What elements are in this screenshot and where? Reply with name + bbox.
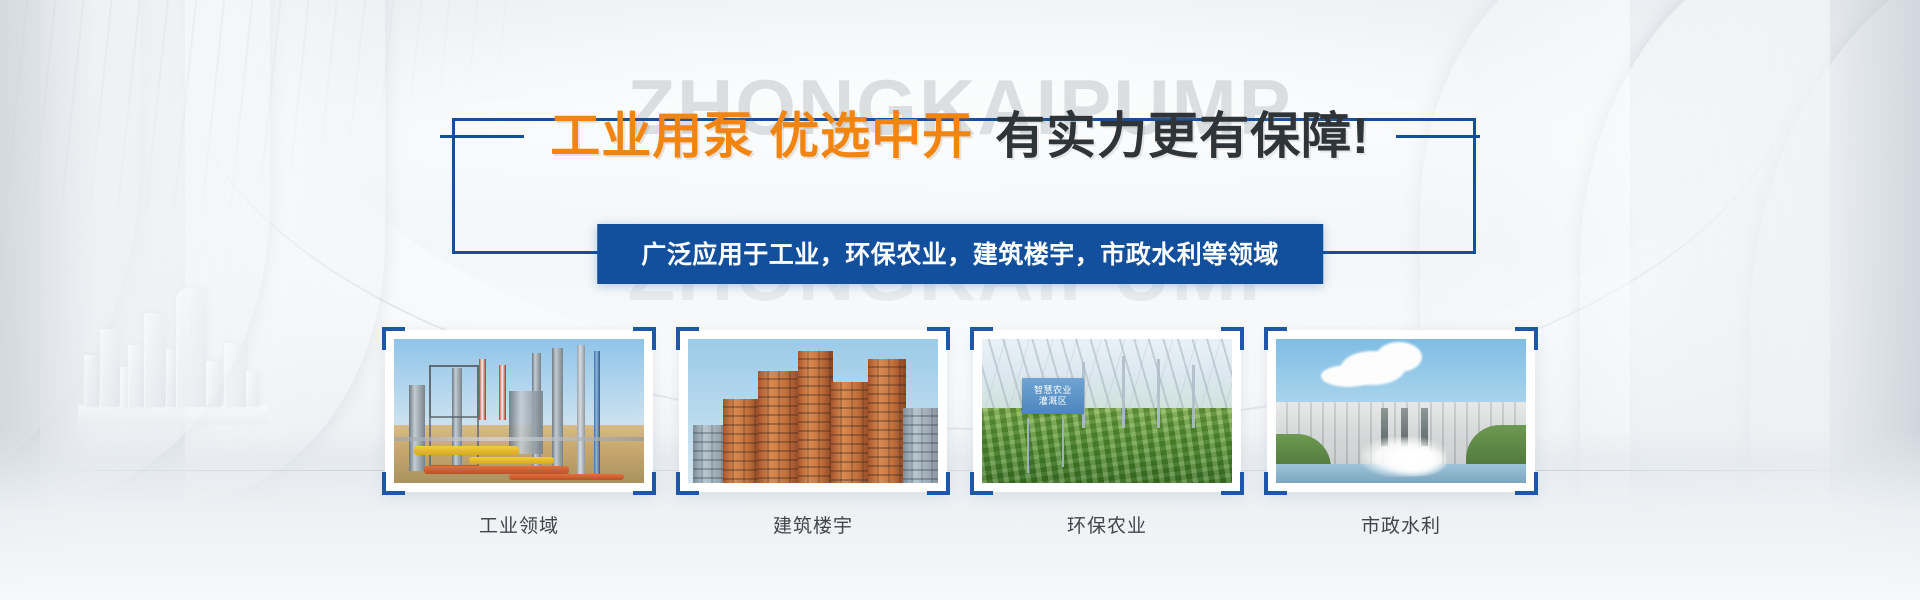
card-caption: 市政水利 xyxy=(1267,511,1535,538)
promo-banner: ZHONGKAIPUMP ZHONGKAIPUMP 工业用泵 优选中开有实力更有… xyxy=(0,0,1920,600)
card-frame xyxy=(1267,330,1535,492)
headline-text: 工业用泵 优选中开有实力更有保障! xyxy=(550,111,1370,161)
headline-rule-left xyxy=(440,135,524,138)
application-card[interactable]: 建筑楼宇 xyxy=(679,330,947,538)
card-frame xyxy=(679,330,947,492)
industrial-refinery-photo xyxy=(394,339,644,483)
headline-rule-right xyxy=(1396,135,1480,138)
application-card[interactable]: 智慧农业 灌溉区 环保农业 xyxy=(973,330,1241,538)
headline-primary-text: 工业用泵 优选中开 xyxy=(550,108,973,164)
headline-secondary-text: 有实力更有保障! xyxy=(995,108,1370,164)
application-card[interactable]: 工业领域 xyxy=(385,330,653,538)
headline-row: 工业用泵 优选中开有实力更有保障! xyxy=(0,104,1920,168)
card-frame: 智慧农业 灌溉区 xyxy=(973,330,1241,492)
application-card[interactable]: 市政水利 xyxy=(1267,330,1535,538)
greenhouse-sign: 智慧农业 灌溉区 xyxy=(1022,378,1084,414)
card-caption: 工业领域 xyxy=(385,511,653,538)
greenhouse-sign-line1: 智慧农业 xyxy=(1034,385,1072,396)
card-frame xyxy=(385,330,653,492)
high-rise-buildings-photo xyxy=(688,339,938,483)
card-caption: 环保农业 xyxy=(973,511,1241,538)
card-caption: 建筑楼宇 xyxy=(679,511,947,538)
subtitle-ribbon: 广泛应用于工业，环保农业，建筑楼宇，市政水利等领域 xyxy=(597,224,1323,284)
greenhouse-farm-photo: 智慧农业 灌溉区 xyxy=(982,339,1232,483)
application-card-list: 工业领域 xyxy=(385,330,1535,538)
hydro-dam-photo xyxy=(1276,339,1526,483)
greenhouse-sign-line2: 灌溉区 xyxy=(1039,396,1068,407)
